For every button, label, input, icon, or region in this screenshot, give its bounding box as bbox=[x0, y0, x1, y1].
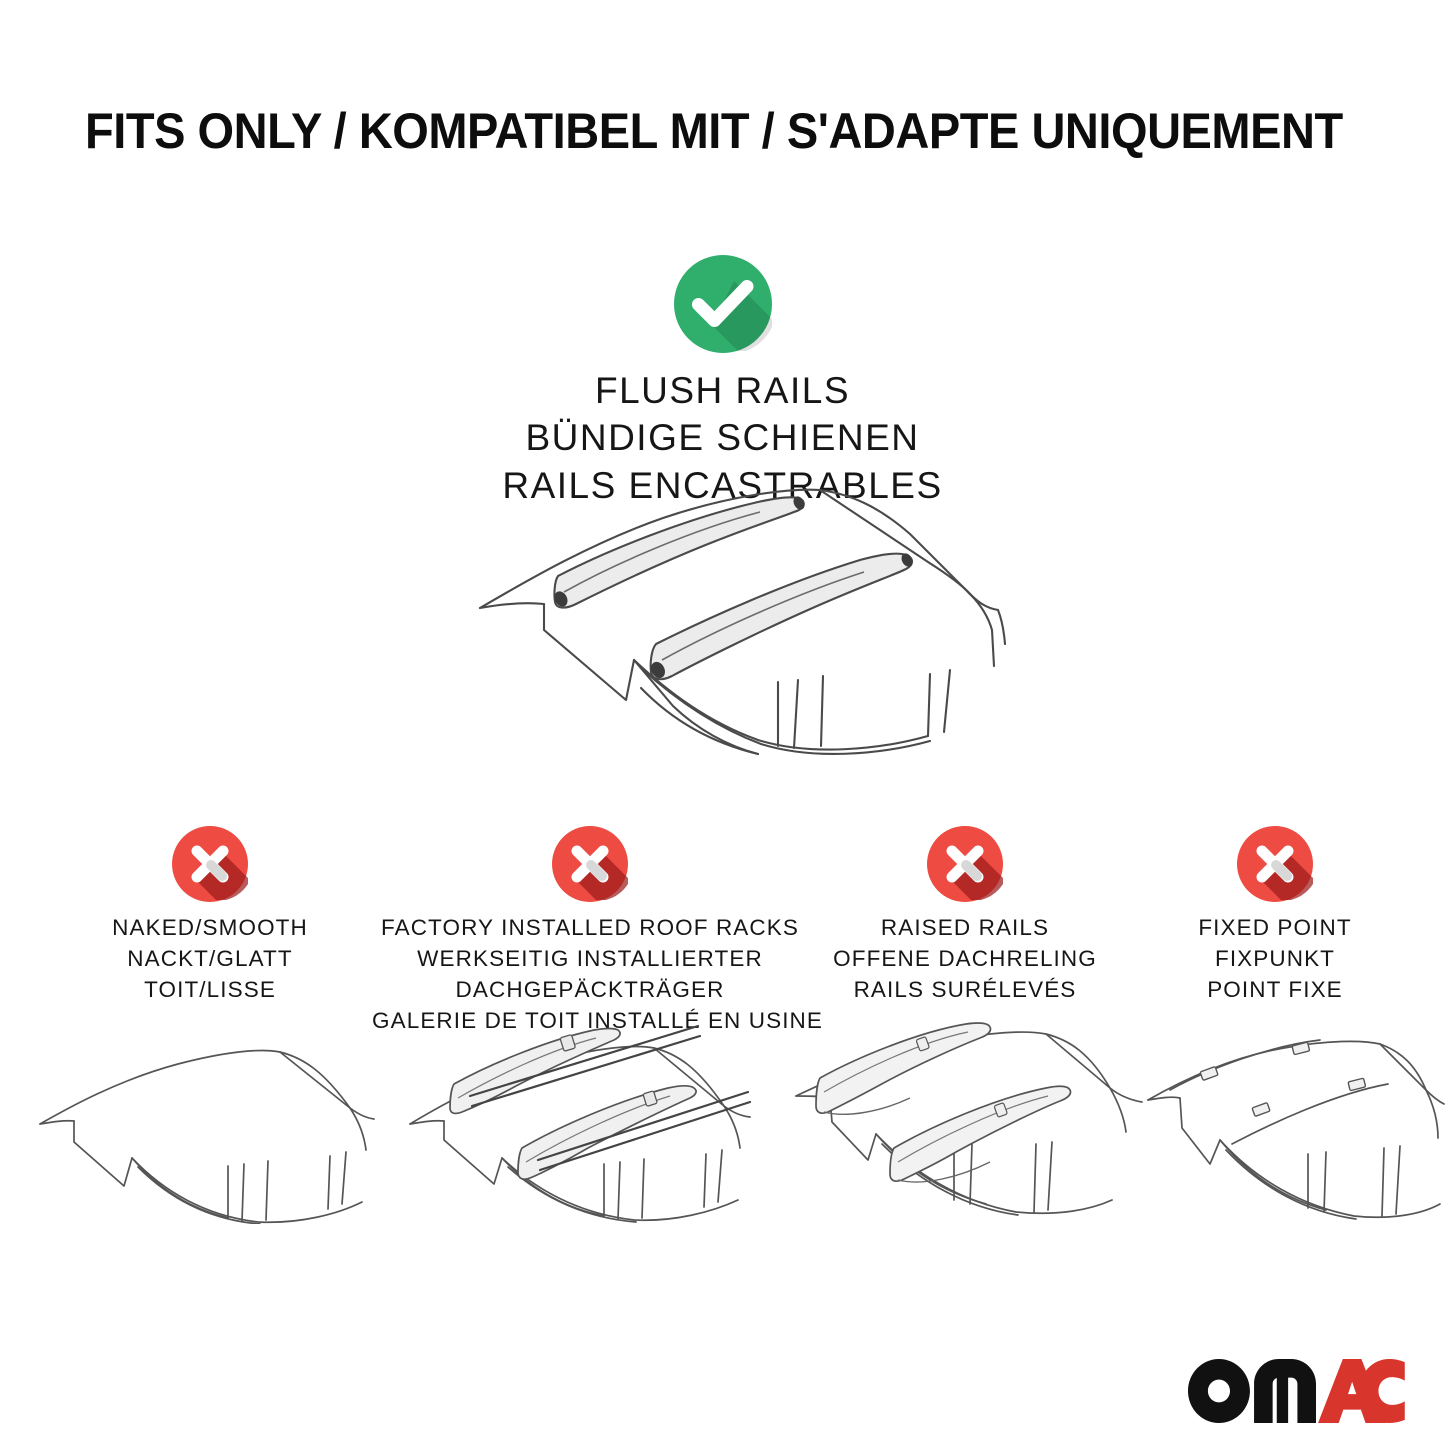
red-x-circle-icon bbox=[927, 826, 1003, 902]
incompatible-label-de: OFFENE DACHRELING bbox=[810, 943, 1120, 974]
incompatible-labels: RAISED RAILS OFFENE DACHRELING RAILS SUR… bbox=[810, 912, 1120, 1005]
incompatible-label-de: FIXPUNKT bbox=[1130, 943, 1420, 974]
incompatible-column-factory-roof-racks: FACTORY INSTALLED ROOF RACKS WERKSEITIG … bbox=[372, 826, 808, 1036]
logo-letter-m bbox=[1254, 1359, 1316, 1423]
car-roof-naked-smooth-illustration bbox=[28, 1034, 380, 1224]
logo-letter-o bbox=[1188, 1359, 1250, 1423]
compatible-label-en: FLUSH RAILS bbox=[0, 367, 1445, 414]
red-x-circle-icon bbox=[552, 826, 628, 902]
omac-logo bbox=[1188, 1359, 1405, 1423]
incompatible-label-en: NAKED/SMOOTH bbox=[35, 912, 385, 943]
compatibility-infographic: FITS ONLY / KOMPATIBEL MIT / S'ADAPTE UN… bbox=[0, 0, 1445, 1445]
compatible-label-de: BÜNDIGE SCHIENEN bbox=[0, 414, 1445, 461]
red-x-circle-icon bbox=[172, 826, 248, 902]
green-check-circle-icon bbox=[674, 255, 772, 353]
car-roof-fixed-point-illustration bbox=[1140, 1028, 1445, 1224]
car-roof-with-flush-rails-illustration bbox=[458, 478, 1006, 778]
incompatible-label-en: FACTORY INSTALLED ROOF RACKS bbox=[372, 912, 808, 943]
incompatible-label-fr: RAILS SURÉLEVÉS bbox=[810, 974, 1120, 1005]
car-roof-raised-rails-illustration bbox=[790, 1020, 1150, 1225]
incompatible-label-en: RAISED RAILS bbox=[810, 912, 1120, 943]
incompatible-illustrations bbox=[0, 1012, 1445, 1227]
car-roof-factory-roof-racks-illustration bbox=[398, 1020, 766, 1225]
incompatible-label-de-1: WERKSEITIG INSTALLIERTER bbox=[372, 943, 808, 974]
incompatible-label-de: NACKT/GLATT bbox=[35, 943, 385, 974]
incompatible-label-fr: POINT FIXE bbox=[1130, 974, 1420, 1005]
page-title: FITS ONLY / KOMPATIBEL MIT / S'ADAPTE UN… bbox=[85, 104, 1298, 159]
incompatible-label-de-2: DACHGEPÄCKTRÄGER bbox=[372, 974, 808, 1005]
incompatible-labels: FIXED POINT FIXPUNKT POINT FIXE bbox=[1130, 912, 1420, 1005]
incompatible-labels: NAKED/SMOOTH NACKT/GLATT TOIT/LISSE bbox=[35, 912, 385, 1005]
incompatible-column-fixed-point: FIXED POINT FIXPUNKT POINT FIXE bbox=[1130, 826, 1420, 1005]
incompatible-column-raised-rails: RAISED RAILS OFFENE DACHRELING RAILS SUR… bbox=[810, 826, 1120, 1005]
incompatible-column-naked-smooth: NAKED/SMOOTH NACKT/GLATT TOIT/LISSE bbox=[35, 826, 385, 1005]
incompatible-label-en: FIXED POINT bbox=[1130, 912, 1420, 943]
incompatible-label-fr: TOIT/LISSE bbox=[35, 974, 385, 1005]
red-x-circle-icon bbox=[1237, 826, 1313, 902]
compatible-section: FLUSH RAILS BÜNDIGE SCHIENEN RAILS ENCAS… bbox=[0, 255, 1445, 509]
